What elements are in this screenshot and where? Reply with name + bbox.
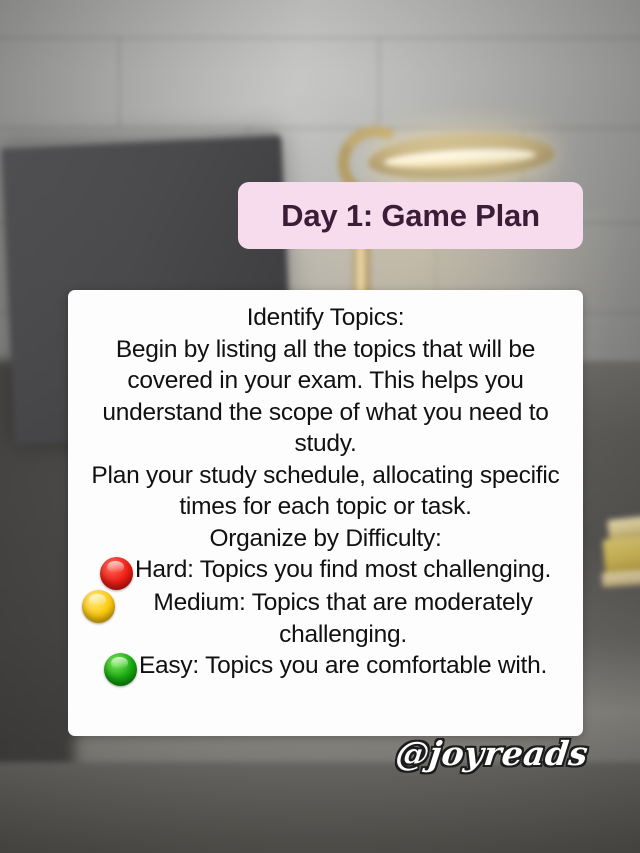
- page-title: Day 1: Game Plan: [281, 198, 540, 234]
- watermark-handle: @joyreads: [394, 734, 591, 773]
- title-badge: Day 1: Game Plan: [238, 182, 583, 249]
- difficulty-item-medium: Medium: Topics that are moderately chall…: [76, 587, 575, 650]
- yellow-circle-icon: [82, 590, 115, 623]
- difficulty-item-hard: Hard: Topics you find most challenging.: [76, 554, 575, 587]
- section-heading-organize-by-difficulty: Organize by Difficulty:: [76, 523, 575, 555]
- section-heading-identify-topics: Identify Topics:: [76, 302, 575, 334]
- green-circle-icon: [104, 653, 137, 686]
- difficulty-item-easy-label: Easy: Topics you are comfortable with.: [139, 650, 547, 682]
- difficulty-item-hard-label: Hard: Topics you find most challenging.: [135, 554, 551, 586]
- paragraph-plan-schedule: Plan your study schedule, allocating spe…: [76, 460, 575, 523]
- red-circle-icon: [100, 557, 133, 590]
- difficulty-item-medium-label: Medium: Topics that are moderately chall…: [117, 587, 569, 650]
- paragraph-list-topics: Begin by listing all the topics that wil…: [76, 334, 575, 460]
- difficulty-item-easy: Easy: Topics you are comfortable with.: [76, 650, 575, 683]
- content-card: Identify Topics: Begin by listing all th…: [68, 290, 583, 736]
- slide-canvas: Day 1: Game Plan Identify Topics: Begin …: [0, 0, 640, 853]
